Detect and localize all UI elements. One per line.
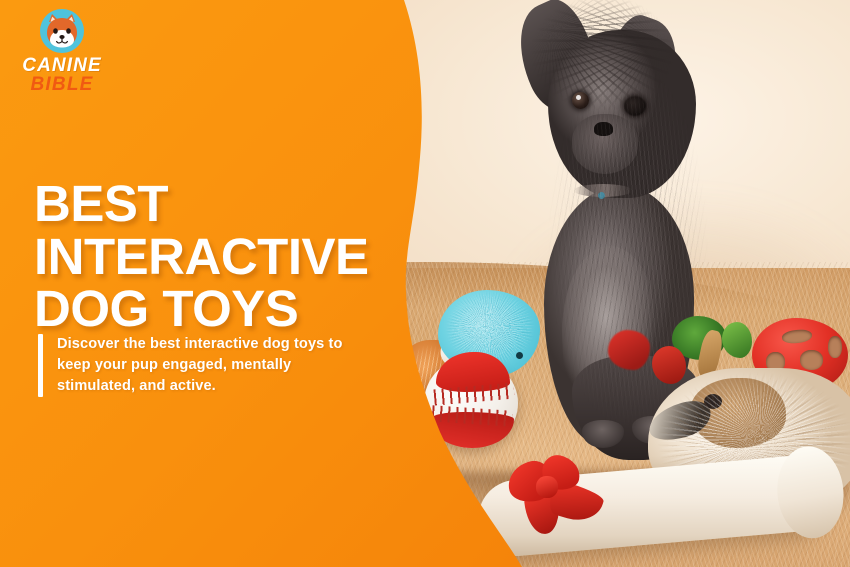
hero-subtitle: Discover the best interactive dog toys t… — [57, 334, 370, 397]
logo-text-bible: BIBLE — [14, 75, 110, 94]
logo-bible-box: BIBLE — [14, 75, 110, 94]
hero-content: CANINE BIBLE BEST INTERACTIVE DOG TOYS D… — [0, 0, 430, 567]
photo-red-ribbon-bow — [508, 452, 604, 536]
hero-banner: CANINE BIBLE BEST INTERACTIVE DOG TOYS D… — [0, 0, 850, 567]
logo-text-canine: CANINE — [14, 56, 110, 75]
hero-subtitle-block: Discover the best interactive dog toys t… — [38, 334, 370, 397]
photo-teal-toy-eye — [516, 352, 523, 359]
subtitle-accent-bar — [38, 334, 43, 397]
site-logo[interactable]: CANINE BIBLE — [14, 8, 110, 94]
photo-red-ball-hole — [828, 336, 842, 358]
corgi-dog-face-icon — [39, 8, 85, 54]
page-title: BEST INTERACTIVE DOG TOYS — [34, 178, 414, 336]
photo-bow-knot — [536, 476, 558, 498]
